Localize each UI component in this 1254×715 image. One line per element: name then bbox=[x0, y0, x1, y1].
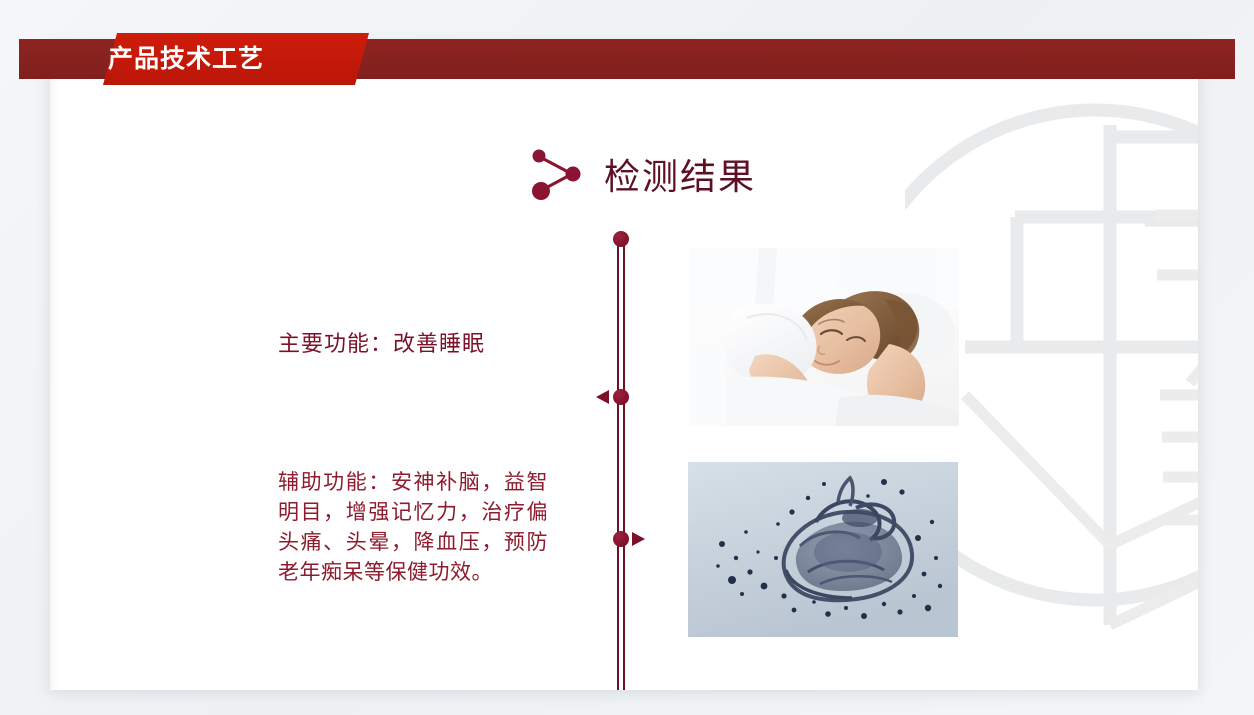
banner-title: 产品技术工艺 bbox=[108, 42, 368, 76]
water-splash-image bbox=[688, 462, 958, 637]
slide-stage: 检测结果 主要功能：改善睡眠 辅助功能：安神补脑，益智明目，增强记忆力，治疗偏头… bbox=[0, 0, 1254, 715]
timeline-arrow-right-icon bbox=[632, 532, 645, 546]
node-arrow-icon bbox=[528, 145, 586, 203]
sleeping-woman-photo bbox=[689, 248, 959, 426]
timeline-node-middle[interactable] bbox=[613, 389, 629, 405]
timeline bbox=[613, 235, 629, 690]
timeline-track bbox=[617, 239, 625, 690]
slide-card: 检测结果 主要功能：改善睡眠 辅助功能：安神补脑，益智明目，增强记忆力，治疗偏头… bbox=[50, 45, 1198, 690]
page-title: 检测结果 bbox=[604, 148, 756, 200]
secondary-function-text: 辅助功能：安神补脑，益智明目，增强记忆力，治疗偏头痛、头晕，降血压，预防老年痴呆… bbox=[278, 467, 548, 587]
timeline-arrow-left-icon bbox=[596, 390, 609, 404]
timeline-node-top[interactable] bbox=[613, 231, 629, 247]
sleeping-woman-image bbox=[689, 248, 959, 426]
headline: 检测结果 bbox=[528, 145, 756, 203]
water-splash-photo bbox=[688, 462, 958, 637]
timeline-node-lower[interactable] bbox=[613, 531, 629, 547]
primary-function-text: 主要功能：改善睡眠 bbox=[278, 326, 485, 358]
